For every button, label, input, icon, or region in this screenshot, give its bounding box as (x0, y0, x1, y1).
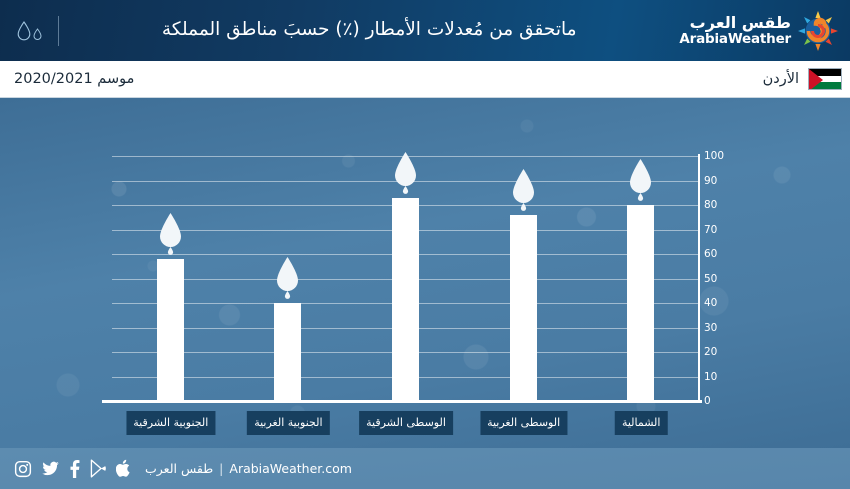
y-axis-tick-label: 70 (704, 224, 717, 236)
subheader-bar: موسم 2020/2021 الأردن (0, 61, 850, 98)
y-axis-tick-label: 80 (704, 199, 717, 211)
footer-credit: طقس العرب | ArabiaWeather.com (145, 461, 352, 476)
water-drop-icon (153, 211, 187, 261)
bar (510, 215, 537, 401)
facebook-icon[interactable] (69, 460, 81, 478)
water-drop-icon (0, 0, 58, 61)
brand-name-english: ArabiaWeather (679, 32, 791, 46)
y-axis-tick-label: 30 (704, 322, 717, 334)
x-axis-category-label: الوسطى الغربية (480, 411, 567, 435)
twitter-icon[interactable] (41, 460, 60, 478)
jordan-flag-icon (808, 68, 842, 90)
page-footer: طقس العرب | ArabiaWeather.com (0, 448, 850, 489)
x-axis-category-label: الجنوبية الغربية (247, 411, 329, 435)
page-header: ماتحقق من مُعدلات الأمطار (٪) حسبَ مناطق… (0, 0, 850, 61)
country-label: الأردن (763, 71, 799, 87)
y-axis-tick-label: 50 (704, 273, 717, 285)
y-axis-tick-label: 0 (704, 395, 711, 407)
brand-name-arabic: طقس العرب (679, 15, 791, 32)
bar (627, 205, 654, 401)
bar (392, 198, 419, 401)
google-play-icon[interactable] (90, 459, 107, 478)
infographic-root: ماتحقق من مُعدلات الأمطار (٪) حسبَ مناطق… (0, 0, 850, 489)
sun-spiral-logo-icon (796, 9, 840, 53)
page-title: ماتحقق من مُعدلات الأمطار (٪) حسبَ مناطق… (59, 19, 679, 42)
water-drop-icon (389, 150, 423, 200)
water-drop-icon (624, 157, 658, 207)
chart-canvas: 0102030405060708090100الجنوبية الشرقيةال… (0, 98, 850, 448)
y-axis-tick-label: 90 (704, 175, 717, 187)
bar (157, 259, 184, 401)
chart-plot-area: 0102030405060708090100الجنوبية الشرقيةال… (112, 156, 700, 401)
season-label: موسم 2020/2021 (14, 71, 134, 87)
y-axis-tick-label: 60 (704, 248, 717, 260)
apple-icon[interactable] (116, 459, 132, 478)
y-axis-tick-label: 40 (704, 297, 717, 309)
social-links (14, 459, 132, 478)
footer-separator: | (219, 461, 223, 476)
water-drop-icon (271, 255, 305, 305)
footer-site-url: ArabiaWeather.com (229, 461, 352, 476)
instagram-icon[interactable] (14, 460, 32, 478)
footer-brand-arabic: طقس العرب (145, 461, 213, 476)
brand-logo[interactable]: طقس العرب ArabiaWeather (679, 0, 850, 61)
bar (274, 303, 301, 401)
y-axis-tick-label: 100 (704, 150, 724, 162)
y-axis-tick-label: 10 (704, 371, 717, 383)
x-axis-category-label: الشمالية (615, 411, 668, 435)
water-drop-icon (506, 167, 540, 217)
x-axis-category-label: الجنوبية الشرقية (126, 411, 215, 435)
country-block: الأردن (763, 68, 842, 90)
y-axis-tick-label: 20 (704, 346, 717, 358)
x-axis-category-label: الوسطى الشرقية (359, 411, 453, 435)
